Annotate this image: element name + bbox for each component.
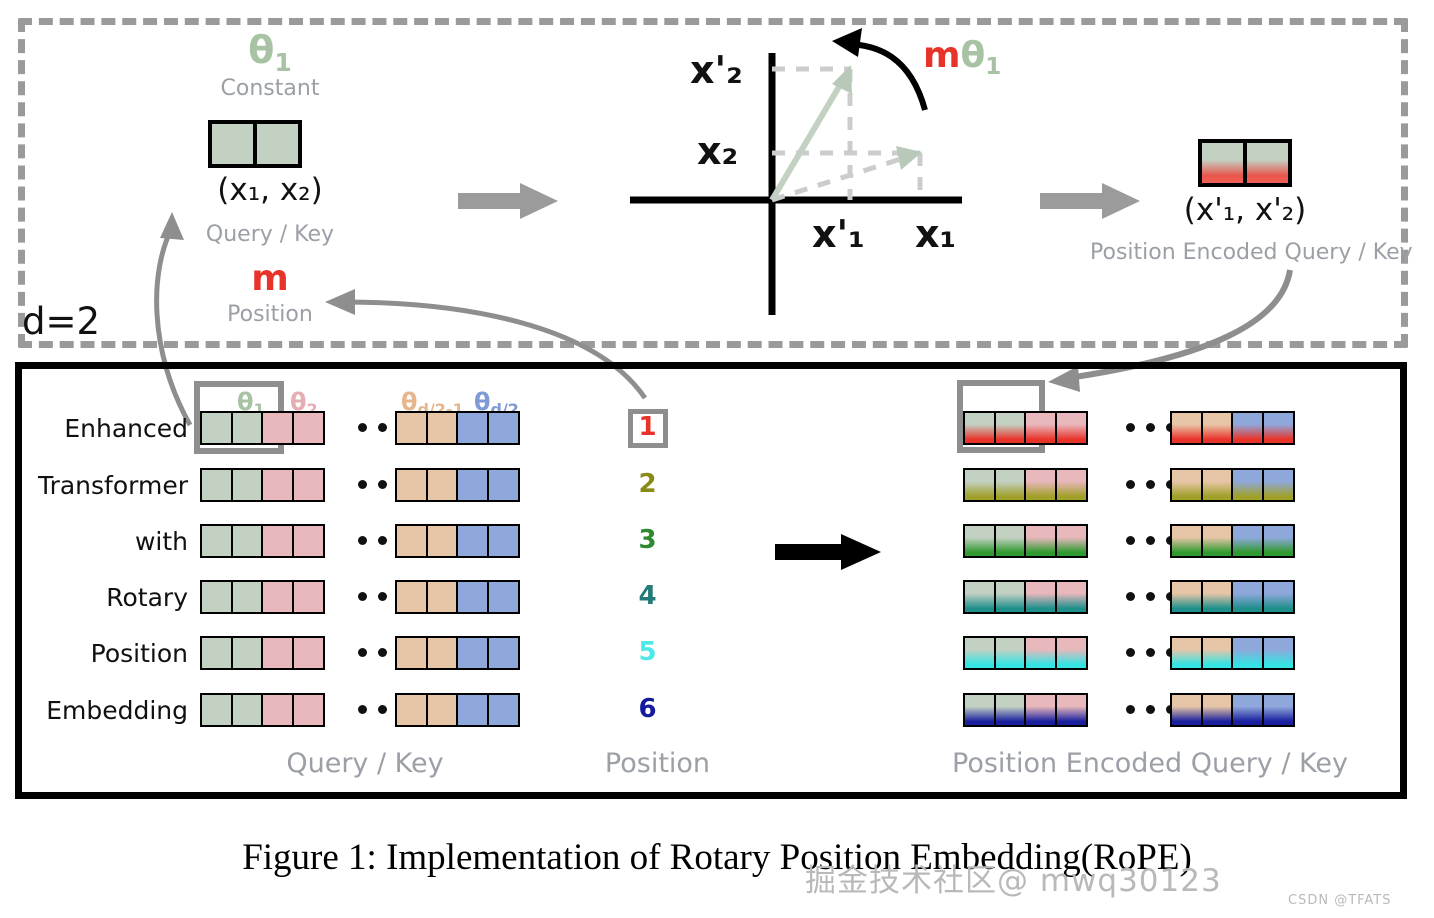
ellipsis-dot (378, 705, 387, 714)
embedding-cell (963, 524, 996, 558)
ellipsis-dot (358, 592, 367, 601)
embedding-cell (456, 693, 489, 727)
embedding-cell (292, 524, 325, 558)
embedding-cell (231, 524, 264, 558)
embedding-cell (200, 636, 233, 670)
embedding-cell (1201, 636, 1234, 670)
embedding-cell (1170, 411, 1203, 445)
theta-subscript: 1 (274, 48, 291, 77)
encoded-vector-label: (x'₁, x'₂) (1175, 192, 1315, 228)
embedding-cell (1170, 580, 1203, 614)
token-label: Transformer (0, 471, 188, 500)
embedding-cell (1201, 468, 1234, 502)
embedding-cell (963, 468, 996, 502)
encoded-group-tail (1170, 468, 1295, 502)
embedding-cell (261, 524, 294, 558)
ellipsis-dot (1126, 536, 1135, 545)
embedding-cell (200, 580, 233, 614)
embedding-cell (994, 693, 1027, 727)
embedding-cell (1262, 411, 1295, 445)
query-key-group-head (200, 693, 325, 727)
embedding-cell (426, 411, 459, 445)
ellipsis-dot (1126, 705, 1135, 714)
encoded-group-tail (1170, 636, 1295, 670)
token-label: Position (0, 639, 188, 668)
encoded-group-head (963, 580, 1088, 614)
watermark-sub: CSDN @TFATS (1288, 893, 1392, 908)
query-key-group-head (200, 524, 325, 558)
embedding-cell (1055, 411, 1088, 445)
embedding-cell (1201, 524, 1234, 558)
embedding-cell (1231, 524, 1264, 558)
embedding-cell (395, 468, 428, 502)
token-label: with (0, 527, 188, 556)
embedding-cell (1201, 580, 1234, 614)
embedding-cell (231, 411, 264, 445)
ellipsis-dot (358, 423, 367, 432)
position-index: 5 (600, 637, 695, 667)
embedding-cell (994, 468, 1027, 502)
ellipsis-dot (358, 705, 367, 714)
embedding-cell (261, 411, 294, 445)
embedding-cell (994, 524, 1027, 558)
transform-arrow-icon (775, 532, 885, 572)
position-index: 6 (600, 694, 695, 724)
caption-query-key: Query / Key (200, 748, 530, 779)
encoded-ellipsis (1126, 705, 1175, 714)
caption-position: Position (560, 748, 755, 779)
embedding-cell (994, 411, 1027, 445)
embedding-cell (395, 411, 428, 445)
embedding-cell (1231, 468, 1264, 502)
position-index: 4 (600, 581, 695, 611)
encoded-group-tail (1170, 580, 1295, 614)
embedding-cell (963, 411, 996, 445)
embedding-cell (261, 468, 294, 502)
embedding-cell (1055, 693, 1088, 727)
constant-theta-symbol: θ1 (200, 28, 340, 77)
token-label: Enhanced (0, 414, 188, 443)
embedding-cell (1231, 411, 1264, 445)
encoded-group-tail (1170, 411, 1295, 445)
encoded-group-head (963, 468, 1088, 502)
encoded-group-head (963, 693, 1088, 727)
embedding-cell (1055, 580, 1088, 614)
embedding-cell (231, 468, 264, 502)
embedding-cell (963, 580, 996, 614)
query-key-group-tail (395, 693, 520, 727)
axis-label-x-rotated: x'₁ (812, 212, 865, 256)
embedding-cell (1170, 693, 1203, 727)
embedding-cell (456, 636, 489, 670)
encoded-group-head (963, 524, 1088, 558)
encoded-group-head (963, 636, 1088, 670)
dimension-label: d=2 (22, 300, 100, 343)
embedding-cell (261, 693, 294, 727)
query-key-group-head (200, 580, 325, 614)
ellipsis-dot (1126, 648, 1135, 657)
embedding-cell (1170, 524, 1203, 558)
axis-label-x-original: x₁ (915, 212, 956, 256)
encoded-vector-cell-1 (1198, 139, 1247, 187)
query-key-group-tail (395, 524, 520, 558)
embedding-cell (426, 524, 459, 558)
embedding-cell (456, 411, 489, 445)
embedding-cell (1024, 468, 1057, 502)
embedding-cell (1231, 580, 1264, 614)
query-key-group-tail (395, 468, 520, 502)
query-key-group-head (200, 411, 325, 445)
embedding-cell (426, 693, 459, 727)
encoded-group-tail (1170, 524, 1295, 558)
ellipsis-dot (378, 592, 387, 601)
ellipsis-dot (1126, 480, 1135, 489)
embedding-cell (487, 693, 520, 727)
highlight-box-position (628, 409, 668, 448)
embedding-cell (456, 468, 489, 502)
embedding-cell (1024, 524, 1057, 558)
ellipsis-dot (378, 536, 387, 545)
embedding-cell (487, 636, 520, 670)
embedding-cell (487, 411, 520, 445)
query-key-group-tail (395, 411, 520, 445)
ellipsis-dot (1146, 423, 1155, 432)
ellipsis-dot (1146, 480, 1155, 489)
figure-canvas: d=2 θ1 Constant (x₁, x₂) Query / Key m P… (0, 0, 1434, 918)
embedding-cell (1231, 693, 1264, 727)
embedding-cell (1201, 411, 1234, 445)
embedding-cell (200, 693, 233, 727)
embedding-cell (487, 524, 520, 558)
ellipsis-dot (1126, 423, 1135, 432)
ellipsis-dot (358, 480, 367, 489)
embedding-cell (456, 580, 489, 614)
embedding-cell (456, 524, 489, 558)
position-index: 2 (600, 469, 695, 499)
ellipsis-dot (1146, 592, 1155, 601)
encoded-vector-box (1198, 139, 1292, 187)
embedding-cell (292, 580, 325, 614)
embedding-cell (200, 411, 233, 445)
query-key-group-tail (395, 580, 520, 614)
theta-glyph: θ (248, 28, 274, 72)
embedding-cell (200, 468, 233, 502)
token-label: Rotary (0, 583, 188, 612)
embedding-cell (231, 580, 264, 614)
encoded-group-tail (1170, 693, 1295, 727)
constant-caption: Constant (200, 76, 340, 101)
rotation-theta-glyph: θ (961, 35, 986, 76)
ellipsis-dot (378, 480, 387, 489)
caption-position-encoded: Position Encoded Query / Key (900, 748, 1400, 779)
rotation-theta-subscript: 1 (985, 54, 1001, 80)
embedding-cell (426, 580, 459, 614)
embedding-cell (1024, 636, 1057, 670)
embedding-cell (426, 636, 459, 670)
embedding-cell (261, 636, 294, 670)
ellipsis-dot (1146, 705, 1155, 714)
axis-label-y-rotated: x'₂ (690, 48, 743, 92)
embedding-cell (1055, 468, 1088, 502)
embedding-cell (994, 636, 1027, 670)
embedding-cell (1231, 636, 1264, 670)
ellipsis-dot (358, 648, 367, 657)
embedding-cell (292, 468, 325, 502)
embedding-cell (426, 468, 459, 502)
embedding-cell (395, 580, 428, 614)
query-key-group-head (200, 468, 325, 502)
embedding-cell (1262, 580, 1295, 614)
embedding-cell (1262, 468, 1295, 502)
token-label: Embedding (0, 696, 188, 725)
encoded-ellipsis (1126, 648, 1175, 657)
embedding-cell (261, 580, 294, 614)
embedding-cell (963, 636, 996, 670)
encoded-group-head (963, 411, 1088, 445)
embedding-cell (1024, 411, 1057, 445)
query-key-group-head (200, 636, 325, 670)
embedding-cell (395, 524, 428, 558)
embedding-cell (487, 468, 520, 502)
embedding-cell (1262, 524, 1295, 558)
ellipsis-dot (378, 648, 387, 657)
embedding-cell (1024, 580, 1057, 614)
embedding-cell (395, 636, 428, 670)
embedding-cell (1201, 693, 1234, 727)
ellipsis-dot (1146, 536, 1155, 545)
embedding-cell (292, 636, 325, 670)
query-key-group-tail (395, 636, 520, 670)
embedding-cell (994, 580, 1027, 614)
embedding-cell (1170, 468, 1203, 502)
encoded-ellipsis (1126, 536, 1175, 545)
embedding-cell (231, 636, 264, 670)
embedding-cell (200, 524, 233, 558)
embedding-cell (487, 580, 520, 614)
encoded-ellipsis (1126, 423, 1175, 432)
encoded-ellipsis (1126, 480, 1175, 489)
embedding-cell (1055, 524, 1088, 558)
watermark-main: 掘金技术社区@ mwq30123 (805, 855, 1222, 900)
embedding-cell (395, 693, 428, 727)
embedding-cell (963, 693, 996, 727)
embedding-cell (1262, 636, 1295, 670)
ellipsis-dot (378, 423, 387, 432)
encoded-vector-cell-2 (1243, 139, 1292, 187)
flow-arrow-2-icon (1040, 182, 1145, 222)
embedding-cell (292, 411, 325, 445)
embedding-cell (1262, 693, 1295, 727)
embedding-cell (292, 693, 325, 727)
embedding-cell (1055, 636, 1088, 670)
encoded-ellipsis (1126, 592, 1175, 601)
vector-cell-2 (253, 120, 302, 168)
ellipsis-dot (358, 536, 367, 545)
embedding-cell (1024, 693, 1057, 727)
position-index: 3 (600, 525, 695, 555)
ellipsis-dot (1146, 648, 1155, 657)
ellipsis-dot (1126, 592, 1135, 601)
embedding-cell (231, 693, 264, 727)
rotation-m-glyph: m (923, 35, 961, 76)
axis-label-y-original: x₂ (697, 129, 738, 173)
embedding-cell (1170, 636, 1203, 670)
flow-arrow-1-icon (458, 182, 563, 222)
rotation-angle-label: mθ1 (923, 35, 1001, 80)
